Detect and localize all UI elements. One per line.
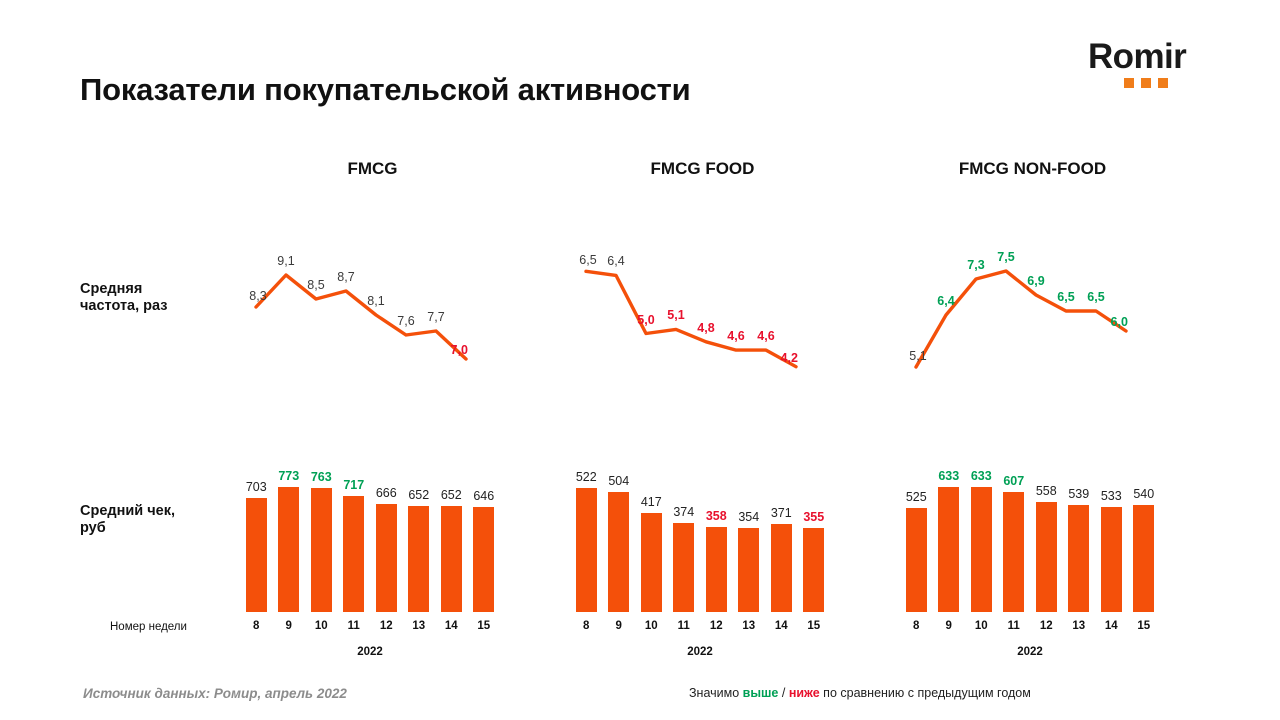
bar [376, 504, 397, 612]
axis-year-fmcg-non-food: 2022 [900, 646, 1160, 658]
legend-suffix: по сравнению с предыдущим годом [820, 686, 1031, 700]
bar [771, 524, 792, 612]
line-point-label: 6,5 [579, 253, 596, 267]
line-point-label: 7,6 [397, 314, 414, 328]
bar [803, 528, 824, 612]
logo-dots-icon [1124, 78, 1248, 88]
bar [738, 528, 759, 612]
bar [938, 487, 959, 612]
bar [1003, 492, 1024, 612]
line-point-label: 7,0 [451, 343, 468, 357]
bar [906, 508, 927, 612]
chart-column-title-fmcg-non-food: FMCG NON-FOOD [905, 159, 1160, 179]
x-axis-tick: 12 [380, 620, 393, 632]
bar-value-label: 504 [608, 474, 629, 488]
legend-prefix: Значимо [689, 686, 743, 700]
line-point-label: 5,0 [637, 313, 654, 327]
x-axis-tick: 13 [742, 620, 755, 632]
line-point-label: 4,8 [697, 321, 714, 335]
line-chart-fmcg: 8,39,18,58,78,17,67,77,0 [240, 205, 500, 410]
bar-value-label: 652 [441, 488, 462, 502]
line-point-label: 6,4 [607, 254, 624, 268]
x-axis-tick: 13 [412, 620, 425, 632]
bar-value-label: 717 [343, 478, 364, 492]
bar [608, 492, 629, 612]
x-axis-tick: 10 [975, 620, 988, 632]
bar [1036, 502, 1057, 612]
bar-value-label: 371 [771, 506, 792, 520]
row-label-basket: Средний чек, руб [80, 503, 175, 537]
legend-separator: / [778, 686, 788, 700]
axis-year-fmcg-food: 2022 [570, 646, 830, 658]
bar-value-label: 773 [278, 469, 299, 483]
line-point-label: 6,5 [1087, 290, 1104, 304]
x-axis-tick: 9 [616, 620, 622, 632]
x-axis-tick: 13 [1072, 620, 1085, 632]
line-point-label: 4,6 [757, 329, 774, 343]
x-axis-tick: 10 [645, 620, 658, 632]
bar-value-label: 355 [803, 510, 824, 524]
chart-column-title-fmcg: FMCG [245, 159, 500, 179]
bar-value-label: 633 [938, 469, 959, 483]
bar [246, 498, 267, 612]
bar [1133, 505, 1154, 612]
bar-value-label: 703 [246, 480, 267, 494]
x-axis-tick: 14 [775, 620, 788, 632]
line-chart-fmcg-non-food: 5,16,47,37,56,96,56,56,0 [900, 205, 1160, 410]
x-axis-tick: 10 [315, 620, 328, 632]
bar-value-label: 646 [473, 489, 494, 503]
bar-value-label: 354 [738, 510, 759, 524]
legend-lower: ниже [789, 686, 820, 700]
bar [576, 488, 597, 612]
x-axis-tick: 11 [1008, 620, 1020, 632]
page-title: Показатели покупательской активности [80, 72, 690, 108]
x-axis-fmcg-food: 89101112131415 [570, 620, 830, 636]
line-point-label: 9,1 [277, 254, 294, 268]
bar [641, 513, 662, 612]
line-point-label: 6,0 [1111, 315, 1128, 329]
bar [1068, 505, 1089, 612]
x-axis-fmcg-non-food: 89101112131415 [900, 620, 1160, 636]
bar [673, 523, 694, 612]
bar-value-label: 763 [311, 470, 332, 484]
bar-value-label: 358 [706, 509, 727, 523]
line-point-label: 7,3 [967, 258, 984, 272]
line-point-label: 5,1 [667, 308, 684, 322]
slide-root: Romir Показатели покупательской активнос… [0, 0, 1280, 720]
bar-value-label: 533 [1101, 489, 1122, 503]
x-axis-tick: 11 [678, 620, 690, 632]
bar [1101, 507, 1122, 612]
line-point-label: 4,2 [781, 351, 798, 365]
line-point-label: 4,6 [727, 329, 744, 343]
axis-year-fmcg: 2022 [240, 646, 500, 658]
row-label-week-number: Номер недели [110, 621, 187, 633]
line-chart-fmcg-food: 6,56,45,05,14,84,64,64,2 [570, 205, 830, 410]
x-axis-tick: 14 [1105, 620, 1118, 632]
line-point-label: 7,7 [427, 310, 444, 324]
bar-value-label: 374 [673, 505, 694, 519]
line-point-label: 6,9 [1027, 274, 1044, 288]
x-axis-tick: 8 [583, 620, 589, 632]
bar-value-label: 607 [1003, 474, 1024, 488]
bar-chart-fmcg-food: 522504417374358354371355 [570, 452, 830, 612]
bar [408, 506, 429, 612]
bar [473, 507, 494, 612]
x-axis-tick: 15 [807, 620, 820, 632]
line-point-label: 8,3 [249, 289, 266, 303]
bar-value-label: 666 [376, 486, 397, 500]
line-point-label: 8,5 [307, 278, 324, 292]
line-point-label: 8,7 [337, 270, 354, 284]
line-point-label: 6,5 [1057, 290, 1074, 304]
bar-value-label: 522 [576, 470, 597, 484]
line-point-label: 5,1 [909, 349, 926, 363]
bar-value-label: 633 [971, 469, 992, 483]
x-axis-tick: 9 [286, 620, 292, 632]
bar-chart-fmcg: 703773763717666652652646 [240, 452, 500, 612]
bar [706, 527, 727, 612]
x-axis-fmcg: 89101112131415 [240, 620, 500, 636]
bar [278, 487, 299, 612]
bar-value-label: 539 [1068, 487, 1089, 501]
x-axis-tick: 11 [348, 620, 360, 632]
bar [343, 496, 364, 612]
bar-value-label: 417 [641, 495, 662, 509]
bar-value-label: 525 [906, 490, 927, 504]
logo-wordmark: Romir [1088, 38, 1248, 76]
bar-value-label: 540 [1133, 487, 1154, 501]
line-point-label: 7,5 [997, 250, 1014, 264]
x-axis-tick: 12 [1040, 620, 1053, 632]
line-point-label: 6,4 [937, 294, 954, 308]
line-series-path [570, 205, 830, 410]
bar-chart-fmcg-non-food: 525633633607558539533540 [900, 452, 1160, 612]
x-axis-tick: 14 [445, 620, 458, 632]
legend-higher: выше [743, 686, 779, 700]
source-note: Источник данных: Ромир, апрель 2022 [83, 686, 347, 701]
bar [311, 488, 332, 612]
x-axis-tick: 9 [946, 620, 952, 632]
x-axis-tick: 15 [477, 620, 490, 632]
chart-column-title-fmcg-food: FMCG FOOD [575, 159, 830, 179]
bar-value-label: 558 [1036, 484, 1057, 498]
significance-legend: Значимо выше / ниже по сравнению с преды… [689, 686, 1031, 700]
line-point-label: 8,1 [367, 294, 384, 308]
x-axis-tick: 15 [1137, 620, 1150, 632]
bar [971, 487, 992, 612]
bar [441, 506, 462, 612]
x-axis-tick: 12 [710, 620, 723, 632]
romir-logo: Romir [1088, 38, 1248, 96]
x-axis-tick: 8 [253, 620, 259, 632]
row-label-frequency: Средняя частота, раз [80, 281, 167, 315]
bar-value-label: 652 [408, 488, 429, 502]
x-axis-tick: 8 [913, 620, 919, 632]
